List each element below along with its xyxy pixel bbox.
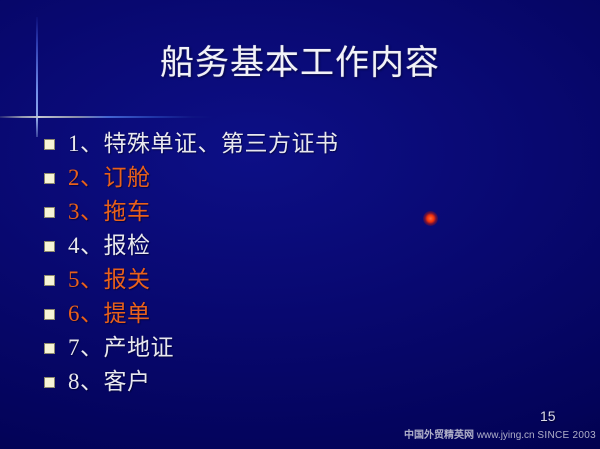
- bullet-square-icon: [44, 139, 55, 150]
- list-item: 5、报关: [44, 263, 474, 297]
- red-laser-dot: [423, 211, 438, 226]
- list-item-label: 4、报检: [68, 231, 151, 261]
- list-item-label: 8、客户: [68, 367, 151, 397]
- bullet-square-icon: [44, 309, 55, 320]
- list-item: 2、订舱: [44, 161, 474, 195]
- presentation-slide: 船务基本工作内容 1、特殊单证、第三方证书2、订舱3、拖车4、报检5、报关6、提…: [0, 0, 600, 449]
- list-item: 6、提单: [44, 297, 474, 331]
- watermark-url: www.jying.cn: [477, 430, 535, 441]
- crosshair-horizontal-line-left: [0, 116, 40, 118]
- bullet-square-icon: [44, 173, 55, 184]
- bullet-square-icon: [44, 343, 55, 354]
- list-item-label: 7、产地证: [68, 333, 174, 363]
- page-number: 15: [540, 408, 580, 424]
- bullet-square-icon: [44, 207, 55, 218]
- slide-title: 船务基本工作内容: [0, 42, 600, 86]
- list-item-label: 3、拖车: [68, 197, 151, 227]
- bullet-square-icon: [44, 275, 55, 286]
- watermark-site-name: 中国外贸精英网: [404, 430, 474, 441]
- list-item: 3、拖车: [44, 195, 474, 229]
- list-item: 7、产地证: [44, 331, 474, 365]
- watermark-since: SINCE 2003: [537, 430, 596, 441]
- bullet-list: 1、特殊单证、第三方证书2、订舱3、拖车4、报检5、报关6、提单7、产地证8、客…: [44, 127, 474, 399]
- list-item-label: 5、报关: [68, 265, 151, 295]
- bullet-square-icon: [44, 377, 55, 388]
- list-item: 1、特殊单证、第三方证书: [44, 127, 474, 161]
- list-item: 4、报检: [44, 229, 474, 263]
- bullet-square-icon: [44, 241, 55, 252]
- footer-watermark: 中国外贸精英网 www.jying.cn SINCE 2003: [300, 429, 596, 442]
- crosshair-horizontal-line-right: [38, 116, 213, 118]
- list-item-label: 2、订舱: [68, 163, 151, 193]
- list-item-label: 6、提单: [68, 299, 151, 329]
- list-item-label: 1、特殊单证、第三方证书: [68, 129, 339, 159]
- list-item: 8、客户: [44, 365, 474, 399]
